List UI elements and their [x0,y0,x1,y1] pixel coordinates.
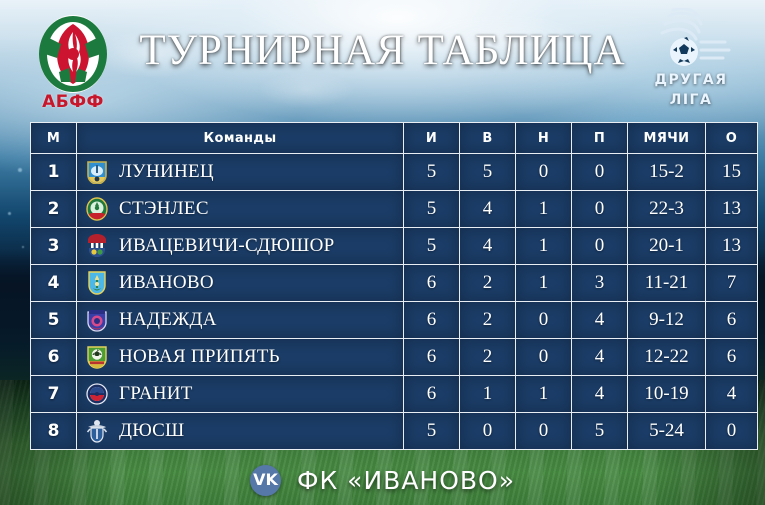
row-points: 15 [706,154,758,191]
row-points: 7 [706,265,758,302]
team-name: ЛУНИНЕЦ [119,161,214,183]
row-wins: 1 [460,376,516,413]
row-played: 5 [404,413,460,450]
row-points: 13 [706,228,758,265]
column-header-position: М [31,123,77,154]
row-team: ИВАНОВО [77,265,404,302]
row-losses: 0 [572,228,628,265]
row-draws: 0 [516,154,572,191]
club-name: ФК «ИВАНОВО» [297,466,515,495]
row-position: 7 [31,376,77,413]
row-points: 4 [706,376,758,413]
row-team: СТЭНЛЕС [77,191,404,228]
row-wins: 0 [460,413,516,450]
vk-icon[interactable]: VK [250,465,281,496]
table-row[interactable]: 7 [31,376,758,413]
row-played: 6 [404,265,460,302]
abff-logo-caption: АБФФ [27,92,119,112]
column-header-teams: Команды [77,123,404,154]
team-crest-icon [86,271,108,295]
row-team: ГРАНИТ [77,376,404,413]
row-losses: 5 [572,413,628,450]
row-played: 5 [404,191,460,228]
standings-table-body: 1 Л [31,154,758,450]
table-row[interactable]: 8 Д [31,413,758,450]
column-header-wins: В [460,123,516,154]
row-goals: 12-22 [628,339,706,376]
team-crest-icon [86,382,108,406]
row-draws: 0 [516,302,572,339]
row-goals: 5-24 [628,413,706,450]
row-team: ИВАЦЕВИЧИ-СДЮШОР [77,228,404,265]
row-losses: 4 [572,339,628,376]
league-ball-swoosh-icon [651,8,733,70]
row-losses: 3 [572,265,628,302]
row-played: 6 [404,339,460,376]
team-name: СТЭНЛЕС [119,198,209,220]
row-losses: 0 [572,191,628,228]
team-crest-icon [86,419,108,443]
table-header-row: М Команды И В Н П МЯЧИ О [31,123,758,154]
row-points: 0 [706,413,758,450]
team-name: НОВАЯ ПРИПЯТЬ [119,346,280,368]
team-name: ГРАНИТ [119,383,193,405]
row-goals: 9-12 [628,302,706,339]
standings-graphic: АБФФ ТУРНИРНАЯ ТАБЛИЦА [0,0,765,505]
standings-table: М Команды И В Н П МЯЧИ О 1 [30,122,758,450]
row-goals: 15-2 [628,154,706,191]
row-wins: 2 [460,302,516,339]
column-header-points: О [706,123,758,154]
team-name: ИВАНОВО [119,272,214,294]
row-played: 6 [404,376,460,413]
row-position: 1 [31,154,77,191]
row-goals: 10-19 [628,376,706,413]
other-league-logo: ДРУГАЯ ЛІГА [637,8,745,116]
table-row[interactable]: 6 [31,339,758,376]
row-draws: 1 [516,376,572,413]
table-row[interactable]: 1 Л [31,154,758,191]
row-losses: 0 [572,154,628,191]
row-position: 3 [31,228,77,265]
row-wins: 4 [460,191,516,228]
team-crest-icon [86,160,108,184]
column-header-goals: МЯЧИ [628,123,706,154]
row-position: 6 [31,339,77,376]
row-draws: 0 [516,413,572,450]
row-draws: 1 [516,265,572,302]
row-position: 4 [31,265,77,302]
column-header-draws: Н [516,123,572,154]
header: АБФФ ТУРНИРНАЯ ТАБЛИЦА [0,0,765,120]
team-name: ИВАЦЕВИЧИ-СДЮШОР [119,235,335,257]
vk-glyph: VK [253,472,278,488]
standings-table-container: М Команды И В Н П МЯЧИ О 1 [30,122,737,450]
league-logo-line2: ЛІГА [637,92,745,108]
row-wins: 4 [460,228,516,265]
row-position: 5 [31,302,77,339]
footer: VK ФК «ИВАНОВО» [0,458,765,502]
row-points: 6 [706,339,758,376]
row-team: НОВАЯ ПРИПЯТЬ [77,339,404,376]
team-crest-icon [86,308,108,332]
row-played: 5 [404,154,460,191]
row-position: 2 [31,191,77,228]
row-goals: 11-21 [628,265,706,302]
column-header-losses: П [572,123,628,154]
row-draws: 1 [516,191,572,228]
row-losses: 4 [572,302,628,339]
table-row[interactable]: 2 [31,191,758,228]
row-team: ЛУНИНЕЦ [77,154,404,191]
row-losses: 4 [572,376,628,413]
row-draws: 1 [516,228,572,265]
row-played: 6 [404,302,460,339]
table-row[interactable]: 4 И [31,265,758,302]
row-goals: 22-3 [628,191,706,228]
row-points: 13 [706,191,758,228]
league-logo-line1: ДРУГАЯ [637,72,745,88]
team-crest-icon [86,197,108,221]
table-row[interactable]: 3 [31,228,758,265]
row-played: 5 [404,228,460,265]
row-draws: 0 [516,339,572,376]
row-team: ДЮСШ [77,413,404,450]
row-team: НАДЕЖДА [77,302,404,339]
team-name: НАДЕЖДА [119,309,217,331]
row-goals: 20-1 [628,228,706,265]
table-row[interactable]: 5 Н [31,302,758,339]
row-wins: 5 [460,154,516,191]
row-position: 8 [31,413,77,450]
row-points: 6 [706,302,758,339]
team-crest-icon [86,345,108,369]
row-wins: 2 [460,265,516,302]
team-crest-icon [86,234,108,258]
row-wins: 2 [460,339,516,376]
column-header-played: И [404,123,460,154]
team-name: ДЮСШ [119,420,185,442]
